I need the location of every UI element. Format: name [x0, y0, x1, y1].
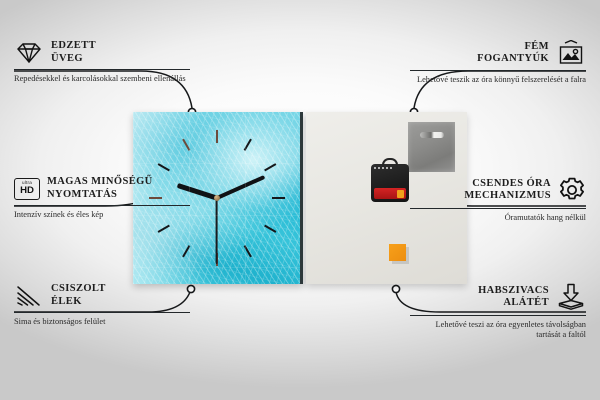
polished-edge-lines-icon: [14, 284, 44, 308]
feature-title-line2: ALÁTÉT: [478, 297, 549, 310]
ultra-hd-badge-icon: ultra HD: [14, 178, 40, 200]
feature-divider: [14, 205, 190, 206]
clock-tick-6: [216, 198, 218, 266]
feature-description: Intenzív színek és éles kép: [14, 210, 190, 220]
feature-title-line2: MECHANIZMUS: [464, 190, 551, 203]
clock-tick-5: [216, 198, 252, 258]
battery-icon: [374, 188, 406, 199]
feature-title-line2: NYOMTATÁS: [47, 189, 153, 202]
feature-silent-mechanism: CSENDES ÓRA MECHANIZMUS Óramutatók hang …: [410, 176, 586, 223]
clock-tick-4: [216, 197, 276, 233]
clock-second-hand: [216, 198, 218, 264]
feature-divider: [410, 70, 586, 71]
feature-title-line1: MAGAS MINŐSÉGŰ: [47, 176, 153, 189]
infographic-stage: EDZETT ÜVEG Repedésekkel és karcolásokka…: [0, 0, 600, 400]
gear-icon: [558, 176, 586, 204]
feature-title-line1: CSISZOLT: [51, 283, 106, 296]
foam-pad: [389, 244, 406, 261]
feature-description: Óramutatók hang nélkül: [410, 213, 586, 223]
clock-tick-12: [216, 130, 218, 198]
clock-center-cap: [214, 195, 220, 201]
feature-divider: [14, 69, 190, 70]
clock-tick-3: [217, 197, 285, 199]
picture-hanger-icon: [556, 40, 586, 66]
diamond-icon: [14, 41, 44, 65]
metal-hanger-icon: [408, 122, 455, 172]
wire-dot-foam: [392, 285, 399, 292]
feature-title-line2: ÜVEG: [51, 53, 96, 66]
feature-metal-handles: FÉM FOGANTYÚK Lehetővé teszik az óra kön…: [410, 40, 586, 85]
feature-title-line2: ÉLEK: [51, 296, 106, 309]
feature-description: Lehetővé teszi az óra egyenletes távolsá…: [410, 320, 586, 341]
feature-title-line1: CSENDES ÓRA: [464, 178, 551, 191]
feature-foam-pad: HABSZIVACS ALÁTÉT Lehetővé teszi az óra …: [410, 283, 586, 341]
feature-description: Repedésekkel és karcolásokkal szembeni e…: [14, 74, 190, 84]
feature-divider: [410, 315, 586, 316]
feature-tempered-glass: EDZETT ÜVEG Repedésekkel és karcolásokka…: [14, 40, 190, 84]
feature-title-line1: EDZETT: [51, 40, 96, 53]
feature-polished-edges: CSISZOLT ÉLEK Sima és biztonságos felüle…: [14, 283, 190, 327]
badge-hd-text: HD: [20, 186, 34, 196]
feature-title-line2: FOGANTYÚK: [477, 53, 549, 66]
clock-tick-2: [216, 163, 276, 199]
clock-tick-1: [216, 139, 252, 199]
feature-title-line1: HABSZIVACS: [478, 285, 549, 298]
feature-description: Sima és biztonságos felület: [14, 317, 190, 327]
foam-pad-arrow-icon: [556, 283, 586, 311]
clock-mechanism-module: [371, 164, 409, 202]
battery-label: [374, 167, 394, 169]
mechanism-hanger-loop: [382, 158, 398, 167]
feature-title-line1: FÉM: [477, 41, 549, 54]
feature-description: Lehetővé teszik az óra könnyű felszerelé…: [410, 75, 586, 85]
feature-divider: [410, 208, 586, 209]
feature-divider: [14, 312, 190, 313]
feature-high-quality-print: ultra HD MAGAS MINŐSÉGŰ NYOMTATÁS Intenz…: [14, 176, 190, 220]
clock-minute-hand: [216, 175, 265, 200]
